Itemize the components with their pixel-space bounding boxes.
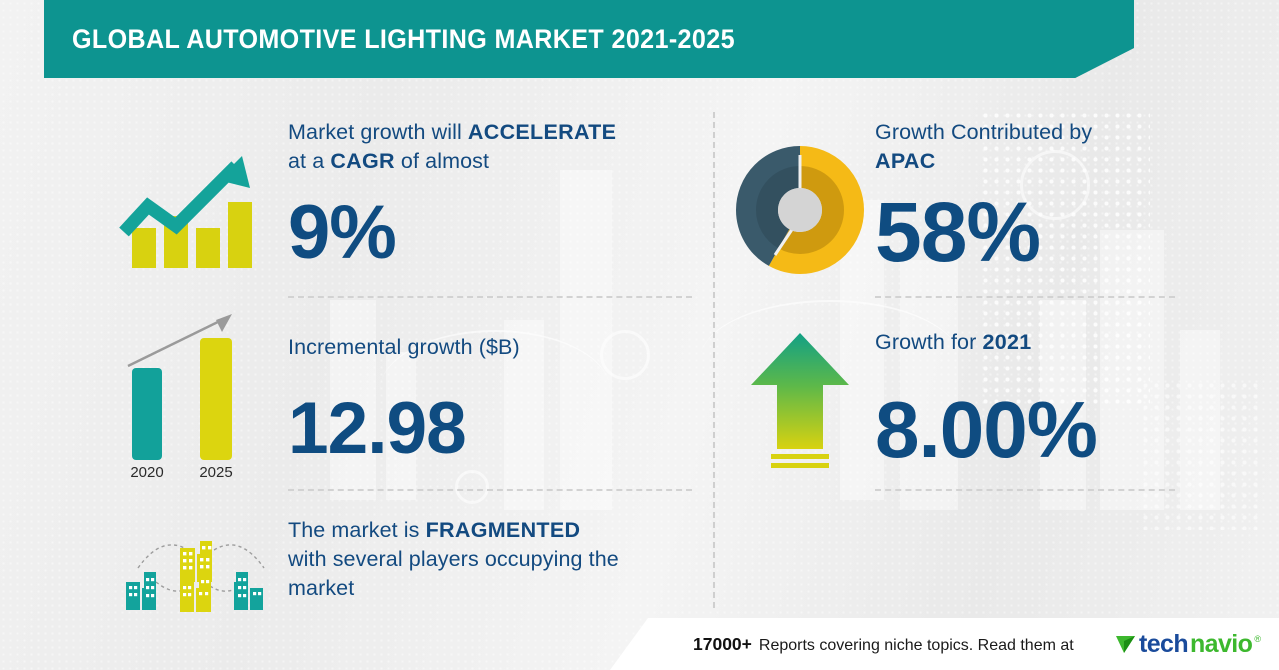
- right-divider-2: [875, 489, 1175, 491]
- technavio-logo[interactable]: tech navio ®: [1115, 630, 1261, 659]
- cagr-line-2: at a CAGR of almost: [288, 147, 616, 176]
- footer-message-group: 17000+ Reports covering niche topics. Re…: [693, 634, 1074, 655]
- incremental-text-block: Incremental growth ($B): [288, 333, 520, 362]
- right-divider-1: [875, 296, 1175, 298]
- up-arrow-icon: [745, 325, 855, 473]
- cagr-value: 9%: [288, 195, 396, 271]
- footer-message: Reports covering niche topics. Read them…: [759, 637, 1074, 655]
- growth2021-label: Growth for 2021: [875, 328, 1031, 357]
- apac-line-2: APAC: [875, 147, 1092, 176]
- page-title: GLOBAL AUTOMOTIVE LIGHTING MARKET 2021-2…: [72, 0, 735, 78]
- incremental-value: 12.98: [288, 392, 466, 465]
- fragmented-line-3: market: [288, 574, 619, 603]
- left-divider-1: [288, 296, 692, 298]
- column-divider: [713, 112, 715, 608]
- apac-line-1: Growth Contributed by: [875, 118, 1092, 147]
- growth-chart-icon: [118, 140, 263, 270]
- fragmented-text-block: The market is FRAGMENTED with several pl…: [288, 516, 619, 603]
- apac-value: 58%: [875, 190, 1040, 274]
- apac-text-block: Growth Contributed by APAC: [875, 118, 1092, 176]
- bar-comparison-icon: 2020 2025: [118, 306, 268, 481]
- infographic-root: GLOBAL AUTOMOTIVE LIGHTING MARKET 2021-2…: [0, 0, 1279, 670]
- report-count: 17000+: [693, 634, 752, 655]
- bar-label-2025: 2025: [199, 464, 232, 481]
- cagr-text-block: Market growth will ACCELERATE at a CAGR …: [288, 118, 616, 176]
- technavio-mark-icon: [1115, 632, 1137, 656]
- cagr-line-1: Market growth will ACCELERATE: [288, 118, 616, 147]
- logo-text-navio: navio: [1190, 630, 1252, 659]
- donut-chart-icon: [735, 145, 865, 275]
- incremental-label: Incremental growth ($B): [288, 333, 520, 362]
- growth2021-text-block: Growth for 2021: [875, 328, 1031, 357]
- logo-trademark: ®: [1254, 634, 1261, 644]
- footer-bar: 17000+ Reports covering niche topics. Re…: [610, 618, 1279, 670]
- fragmented-line-2: with several players occupying the: [288, 545, 619, 574]
- growth2021-value: 8.00%: [875, 390, 1097, 470]
- logo-text-tech: tech: [1139, 630, 1188, 659]
- left-divider-2: [288, 489, 692, 491]
- fragmented-market-icon: [118, 524, 278, 616]
- fragmented-line-1: The market is FRAGMENTED: [288, 516, 619, 545]
- bar-label-2020: 2020: [130, 464, 163, 481]
